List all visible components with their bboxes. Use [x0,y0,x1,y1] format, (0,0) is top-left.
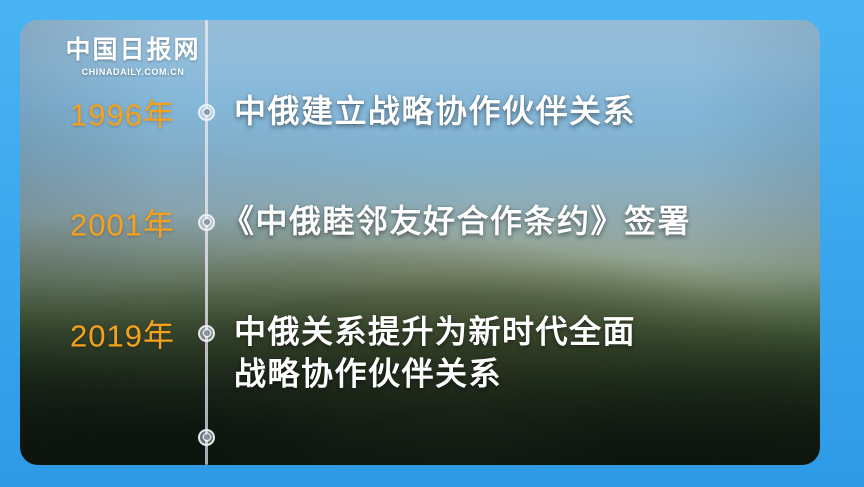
timeline-year-2001: 2001年 [70,200,175,245]
timeline-photo-panel: 中国日报网 CHINADAILY.COM.CN 1996年 中俄建立战略协作伙伴… [20,20,820,465]
timeline-dot-2001[interactable] [198,214,215,231]
screenshot-root: 中国日报网 CHINADAILY.COM.CN 1996年 中俄建立战略协作伙伴… [0,0,864,487]
china-daily-logo[interactable]: 中国日报网 CHINADAILY.COM.CN [58,38,208,77]
timeline-dot-1996[interactable] [198,104,215,121]
timeline-year-1996: 1996年 [70,90,175,135]
timeline-dot-end[interactable] [198,429,215,446]
timeline-axis-line [205,20,208,465]
timeline-headline-2019: 中俄关系提升为新时代全面 战略协作伙伴关系 [234,311,636,394]
logo-wordmark-cn: 中国日报网 [58,38,208,64]
timeline-headline-2001: 《中俄睦邻友好合作条约》签署 [222,201,691,243]
timeline-dot-2019[interactable] [198,325,215,342]
timeline-year-2019: 2019年 [70,311,175,356]
logo-domain-text: CHINADAILY.COM.CN [58,67,208,77]
timeline-headline-1996: 中俄建立战略协作伙伴关系 [234,91,636,133]
